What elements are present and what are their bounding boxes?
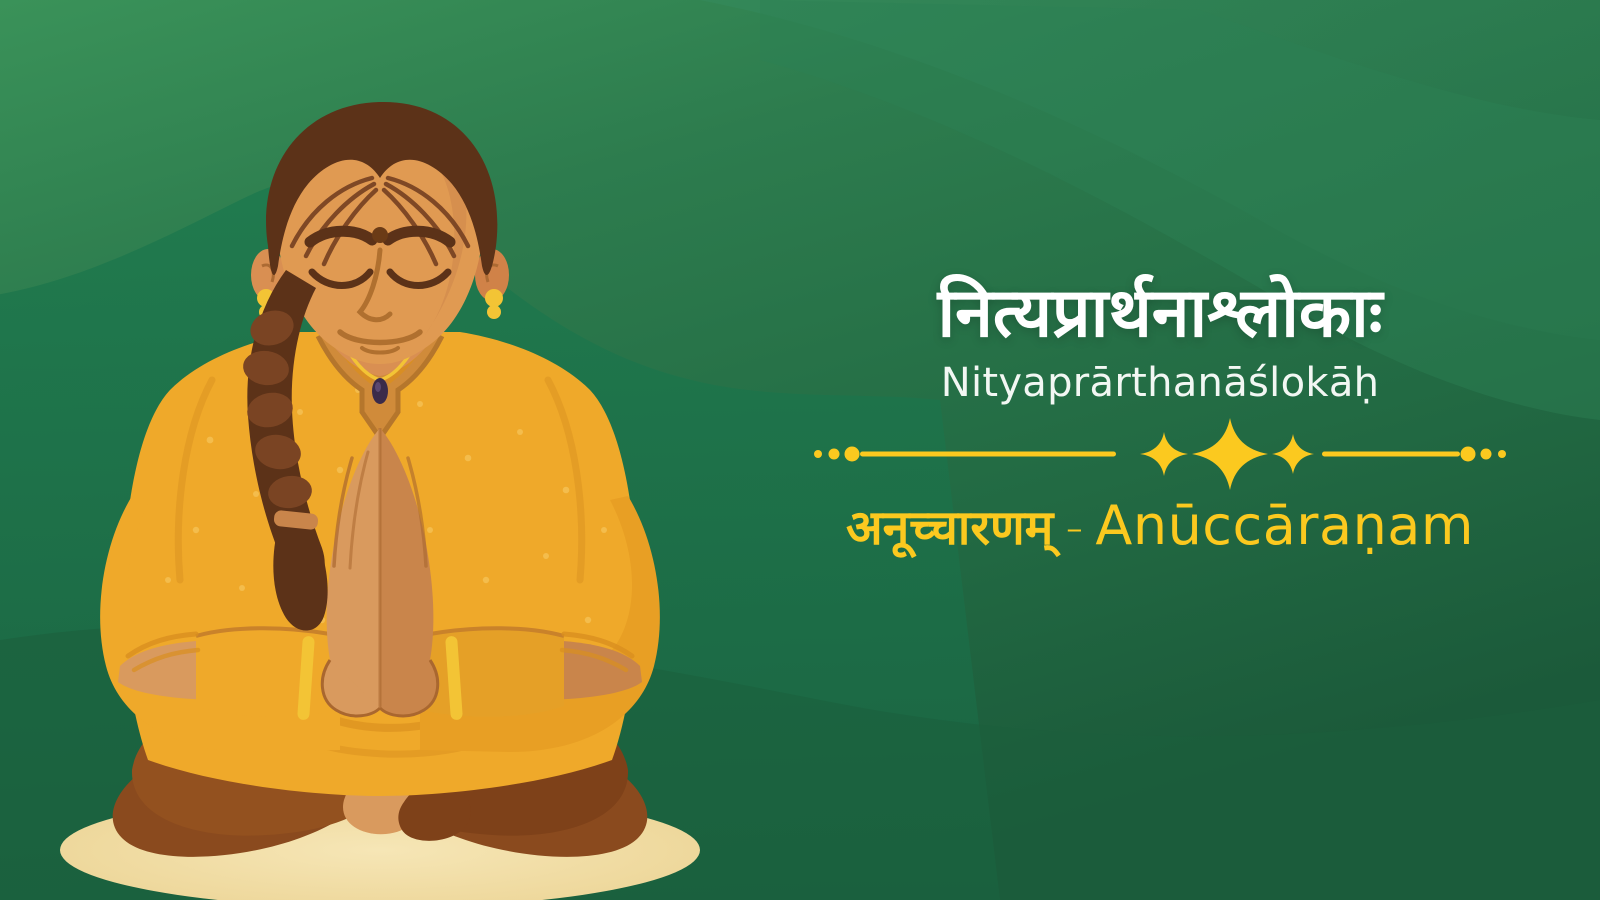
meditating-woman-illustration	[0, 60, 760, 900]
star-small-left	[1140, 432, 1188, 476]
page-title-devanagari: नित्यप्रार्थनाश्लोकाः	[938, 276, 1383, 352]
title-card: नित्यप्रार्थनाश्लोकाः Nityaprārthanāślok…	[0, 0, 1600, 900]
dot-small-right	[1498, 450, 1506, 458]
subtitle-devanagari: अनूच्चारणम्	[846, 502, 1053, 555]
sparkle-divider	[810, 432, 1510, 476]
star-small-right	[1272, 434, 1314, 474]
subtitle: अनूच्चारणम् - Anūccāraṇam	[846, 494, 1474, 557]
dot-small-left	[814, 450, 822, 458]
bindi	[372, 227, 388, 243]
text-panel: नित्यप्रार्थनाश्लोकाः Nityaprārthanāślok…	[760, 276, 1560, 557]
divider-rule-right	[1322, 452, 1460, 457]
page-title-transliteration: Nityaprārthanāślokāḥ	[941, 360, 1380, 406]
dot-large-left	[845, 447, 860, 462]
dot-medium-right	[1481, 449, 1492, 460]
divider-rule-left	[860, 452, 1116, 457]
dot-large-right	[1461, 447, 1476, 462]
subtitle-transliteration: Anūccāraṇam	[1095, 494, 1474, 557]
dot-medium-left	[829, 449, 840, 460]
star-large-center	[1192, 418, 1268, 490]
subtitle-separator: -	[1053, 498, 1095, 556]
